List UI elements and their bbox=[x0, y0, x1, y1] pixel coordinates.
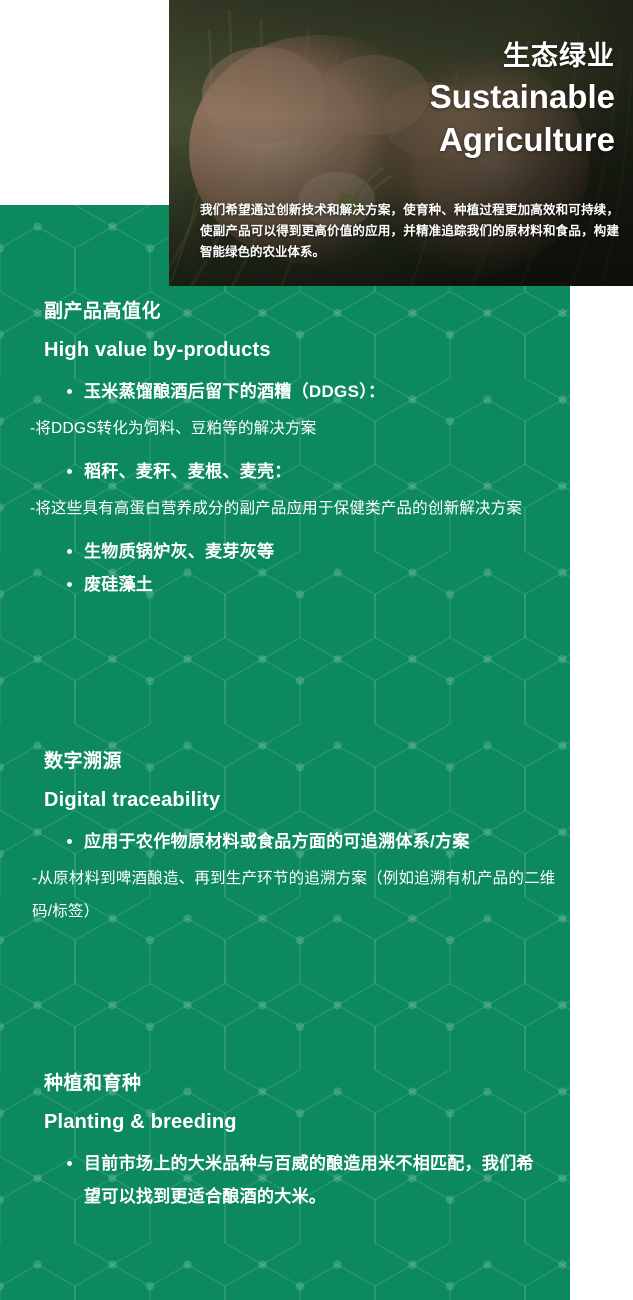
hero-title-block: 生态绿业 Sustainable Agriculture bbox=[215, 38, 615, 161]
note-text: -将这些具有高蛋白营养成分的副产品应用于保健类产品的创新解决方案 bbox=[30, 492, 560, 525]
section-high-value-by-products: 副产品高值化 High value by-products 玉米蒸馏酿酒后留下的… bbox=[0, 297, 570, 601]
list-item: 目前市场上的大米品种与百威的酿造用米不相匹配，我们希望可以找到更适合酿酒的大米。 bbox=[84, 1147, 544, 1213]
section-heading-cn: 种植和育种 bbox=[44, 1069, 570, 1099]
hero-title-en-line2: Agriculture bbox=[215, 118, 615, 161]
page-root: 生态绿业 Sustainable Agriculture 我们希望通过创新技术和… bbox=[0, 0, 633, 1300]
section-heading-en: Digital traceability bbox=[44, 785, 570, 815]
list-item: 废硅藻土 bbox=[84, 568, 544, 601]
section-item-list: 稻秆、麦秆、麦根、麦壳： bbox=[0, 455, 570, 488]
list-item: 稻秆、麦秆、麦根、麦壳： bbox=[84, 455, 544, 488]
section-heading-cn: 副产品高值化 bbox=[44, 297, 570, 327]
section-item-list: 玉米蒸馏酿酒后留下的酒糟（DDGS）： bbox=[0, 375, 570, 408]
list-item: 生物质锅炉灰、麦芽灰等 bbox=[84, 535, 544, 568]
list-item: 应用于农作物原材料或食品方面的可追溯体系/方案 bbox=[84, 825, 544, 858]
section-item-list: 应用于农作物原材料或食品方面的可追溯体系/方案 bbox=[0, 825, 570, 858]
hero-title-cn: 生态绿业 bbox=[215, 38, 615, 75]
section-item-list: 生物质锅炉灰、麦芽灰等 废硅藻土 bbox=[0, 535, 570, 601]
section-digital-traceability: 数字溯源 Digital traceability 应用于农作物原材料或食品方面… bbox=[0, 747, 570, 928]
note-text: -从原材料到啤酒酿造、再到生产环节的追溯方案（例如追溯有机产品的二维码/标签） bbox=[32, 862, 562, 928]
note-text: -将DDGS转化为饲料、豆粕等的解决方案 bbox=[30, 412, 560, 445]
section-heading-en: High value by-products bbox=[44, 335, 570, 365]
section-heading-cn: 数字溯源 bbox=[44, 747, 570, 777]
list-item: 玉米蒸馏酿酒后留下的酒糟（DDGS）： bbox=[84, 375, 544, 408]
section-heading-en: Planting & breeding bbox=[44, 1107, 570, 1137]
section-item-list: 目前市场上的大米品种与百威的酿造用米不相匹配，我们希望可以找到更适合酿酒的大米。 bbox=[0, 1147, 570, 1213]
content-sections: 副产品高值化 High value by-products 玉米蒸馏酿酒后留下的… bbox=[0, 205, 570, 1300]
section-planting-breeding: 种植和育种 Planting & breeding 目前市场上的大米品种与百威的… bbox=[0, 1069, 570, 1213]
hero-title-en-line1: Sustainable bbox=[215, 75, 615, 118]
